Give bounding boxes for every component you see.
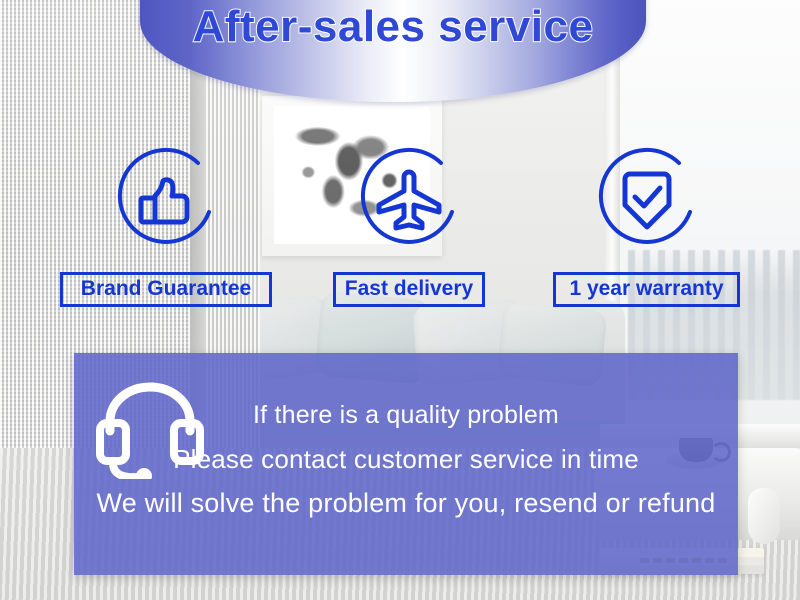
support-message-panel: If there is a quality problem Please con… bbox=[74, 353, 738, 575]
shield-check-icon bbox=[616, 167, 678, 233]
thumbs-up-icon bbox=[135, 171, 197, 229]
support-line-3: We will solve the problem for you, resen… bbox=[74, 481, 738, 525]
icon-ring bbox=[349, 140, 469, 260]
page-title: After-sales service bbox=[140, 2, 646, 52]
airplane-icon bbox=[375, 169, 443, 231]
after-sales-service-banner: After-sales service Brand Guarantee bbox=[0, 0, 800, 600]
support-message-lines: If there is a quality problem Please con… bbox=[74, 393, 738, 525]
support-line-1: If there is a quality problem bbox=[74, 393, 738, 437]
feature-label-brand-guarantee: Brand Guarantee bbox=[60, 272, 272, 307]
feature-label-one-year-warranty: 1 year warranty bbox=[553, 272, 740, 307]
icon-ring bbox=[587, 140, 707, 260]
background-vase bbox=[748, 488, 780, 544]
icon-ring bbox=[106, 140, 226, 260]
feature-label-fast-delivery: Fast delivery bbox=[333, 272, 485, 307]
feature-brand-guarantee: Brand Guarantee bbox=[60, 140, 272, 307]
feature-fast-delivery: Fast delivery bbox=[333, 140, 485, 307]
feature-one-year-warranty: 1 year warranty bbox=[553, 140, 740, 307]
support-line-2: Please contact customer service in time bbox=[74, 437, 738, 481]
feature-row: Brand Guarantee Fast delivery bbox=[0, 140, 800, 320]
